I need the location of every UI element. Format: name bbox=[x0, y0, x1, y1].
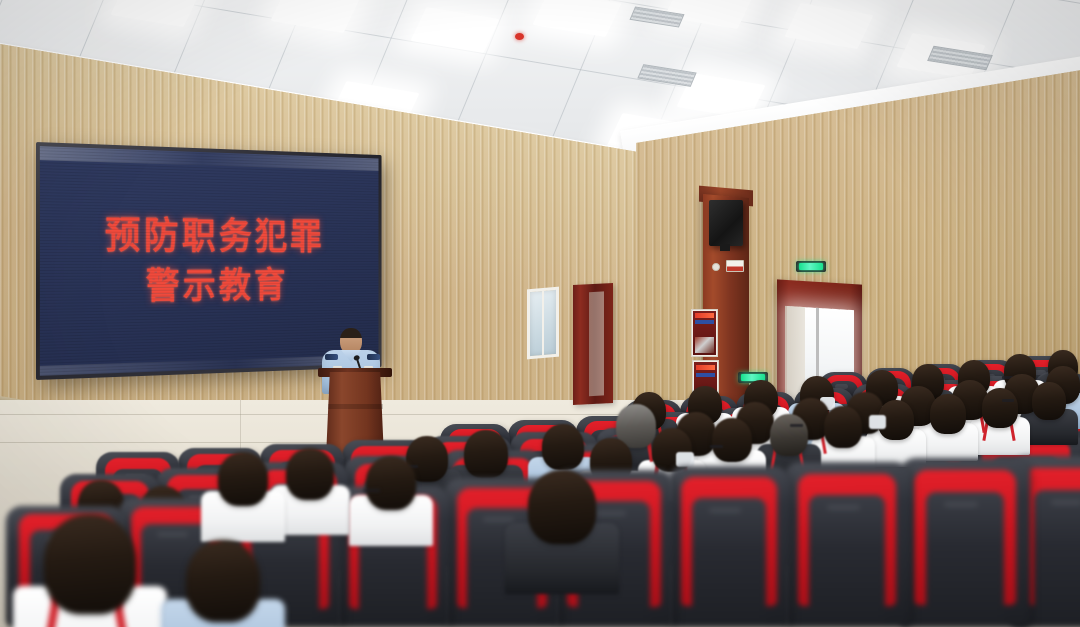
seat-back-notch bbox=[709, 508, 741, 513]
smoke-detector-indicator bbox=[515, 33, 524, 40]
back-door-open-leaf bbox=[589, 291, 604, 396]
wall-switch[interactable] bbox=[712, 263, 720, 271]
audience-person-head bbox=[44, 514, 136, 614]
audience-person-head bbox=[824, 406, 862, 448]
poster-graphic bbox=[693, 311, 716, 355]
poster-subtitle-band bbox=[696, 373, 715, 377]
audience-person-head bbox=[186, 540, 260, 622]
poster-title-band bbox=[696, 365, 715, 370]
led-screen-bezel: 预防职务犯罪 警示教育 bbox=[36, 142, 382, 380]
exit-sign-glow bbox=[799, 263, 823, 270]
led-screen-surface: 预防职务犯罪 警示教育 bbox=[40, 146, 379, 376]
led-screen[interactable]: 预防职务犯罪 警示教育 bbox=[36, 142, 440, 380]
eyeglasses-icon bbox=[710, 445, 724, 448]
audience-person-head bbox=[1032, 382, 1066, 420]
screen-glare-top bbox=[40, 146, 379, 171]
face-mask-icon bbox=[869, 415, 886, 429]
poster-title-band bbox=[695, 313, 714, 318]
audience-person-head bbox=[712, 418, 752, 462]
presenter-epaulette-left bbox=[325, 354, 338, 360]
exit-sign-right bbox=[796, 261, 826, 272]
fire-alarm-device[interactable] bbox=[726, 260, 744, 272]
eyeglasses-icon bbox=[790, 424, 803, 427]
audience-person-head bbox=[464, 430, 508, 478]
presenter-epaulette-right bbox=[367, 354, 380, 360]
poster-subtitle-band bbox=[695, 320, 714, 324]
audience-person-head bbox=[982, 388, 1018, 428]
back-door[interactable] bbox=[573, 283, 613, 405]
face-mask-icon bbox=[676, 452, 694, 467]
seat-back-notch bbox=[483, 517, 513, 522]
seat-back-notch bbox=[1051, 500, 1080, 505]
seat-back-notch bbox=[157, 532, 187, 537]
audience-seat[interactable] bbox=[784, 462, 910, 627]
audience-person-head bbox=[286, 448, 334, 500]
audience-person-head bbox=[542, 424, 584, 470]
seat-back-notch bbox=[944, 502, 978, 507]
audience-person-head bbox=[770, 414, 808, 456]
side-window bbox=[527, 287, 559, 360]
seat-back-notch bbox=[595, 511, 626, 516]
wall-speaker-icon bbox=[709, 200, 743, 246]
screen-title-line2: 警示教育 bbox=[146, 263, 289, 308]
seat-back-notch bbox=[827, 505, 860, 510]
screen-title-line1: 预防职务犯罪 bbox=[105, 213, 325, 260]
speaker-bracket bbox=[720, 244, 730, 251]
fire-safety-poster-upper bbox=[691, 309, 718, 357]
podium-shadow-line bbox=[328, 404, 383, 409]
audience-person-head bbox=[930, 394, 966, 434]
audience-seat[interactable] bbox=[668, 466, 790, 627]
audience-seat[interactable] bbox=[900, 458, 1030, 627]
audience-person-head bbox=[528, 470, 596, 544]
poster-photo bbox=[695, 337, 714, 353]
auditorium-photo: 预防职务犯罪 警示教育 bbox=[0, 0, 1080, 627]
audience-person-head bbox=[218, 452, 268, 506]
audience-person-head bbox=[366, 456, 416, 510]
eyeglasses-icon bbox=[1002, 399, 1014, 402]
